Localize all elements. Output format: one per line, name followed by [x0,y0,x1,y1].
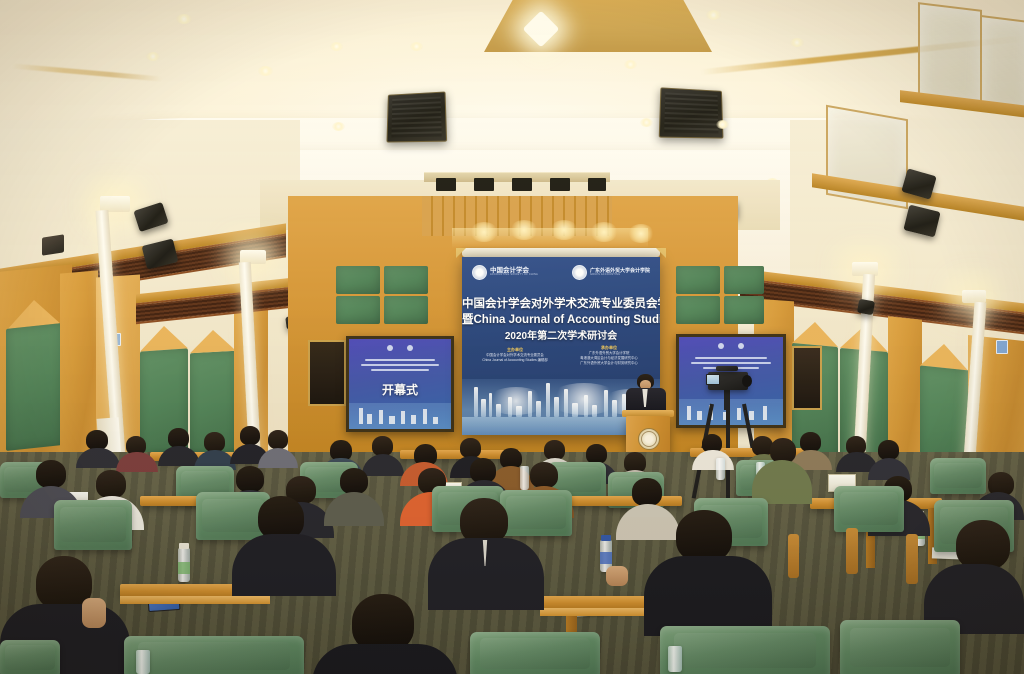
seat-front-2 [470,632,600,674]
banner-line-1: 中国会计学会对外学术交流专业委员会学术年会 [462,295,660,311]
attendee-head-front [676,510,732,562]
stage-recess-left [308,340,346,406]
seat-row2-6 [834,486,904,532]
attendee-hand-holding-bottle [606,566,628,586]
water-bottle[interactable] [520,466,529,490]
seat-front-1 [124,636,304,674]
banner-logo-row: 中国会计学会 ACCOUNTING SOCIETY OF CHINA 广东外语外… [462,265,660,280]
banner-logo-society: 中国会计学会 ACCOUNTING SOCIETY OF CHINA [472,265,538,280]
stage-panel-left-2 [336,296,380,324]
wall-triangle-left-3 [190,329,236,353]
seat-row2-1 [54,500,132,550]
seat-armrest [788,534,799,578]
wall-speaker-left-small [42,234,64,255]
attendee-head-front [956,520,1010,570]
side-screen-left-headline: 开幕式 [349,381,451,398]
bottle-label [600,552,612,564]
bottle-cap [601,535,611,541]
attendee-head [530,462,558,488]
banner-sub-left-line-2: China Journal of Accounting Studies 编辑部 [476,358,554,363]
stage-panel-right-2 [676,296,720,324]
wall-panel-left-1 [6,323,62,451]
camera-lcd-screen[interactable] [706,374,720,385]
attendee-head [544,440,565,460]
seat-front-3 [660,626,830,674]
desk-edge [120,596,270,604]
seat-armrest [906,534,918,584]
camera-lens-icon [742,375,752,387]
attendee-head [204,432,225,452]
screen-right-skyline [679,399,783,425]
stage-panel-right-4 [724,296,764,324]
attendee-head [36,460,66,488]
seat-armrest [846,528,858,574]
bottle-label [178,562,190,574]
screen-left-skyline [349,403,451,429]
ceiling-gold-panel [484,0,712,52]
bottle-cap [179,543,189,549]
stage-panel-left-3 [384,266,428,294]
banner-valance [462,248,660,257]
attendee-shoulders-front [312,644,458,674]
ceiling-speaker-right [659,87,724,138]
desk-mid-center [556,496,682,506]
ceiling-speaker-left [386,91,447,142]
university-seal-icon [572,265,587,280]
banner-sub-left: 主办单位 中国会计学会对外学术交流专业委员会 China Journal of … [476,347,554,363]
attendee-shoulders-front [232,534,336,596]
wall-sign-right [996,340,1008,354]
seat-front-5 [840,620,960,674]
side-screen-left: 开幕式 [346,336,454,432]
seat-front-4 [0,640,60,674]
attendee-head [632,478,662,506]
stage-light-right-3 [857,299,875,316]
banner-logo-2-en: GDUFS ACCOUNTING [590,274,650,277]
attendee-head [372,436,393,456]
attendee-head [340,468,368,494]
attendee-head [460,438,481,458]
attendee-head [236,466,264,492]
attendee-shoulders-front [644,556,772,636]
attendee-head [240,426,260,445]
water-bottle[interactable] [668,646,682,672]
seat-row2-4 [500,490,572,536]
conference-hall-photo: 开幕式 [0,0,1024,674]
wall-triangle-left-2 [140,324,188,351]
banner-sub-right: 承办单位 广东外语外贸大学会计学院 粤港澳大湾区会计与经济发展研究中心 广东外语… [566,345,652,366]
attendee-head [878,440,899,460]
camera-handle [716,366,738,371]
banner-line-3: 2020年第二次学术研讨会 [462,327,660,342]
screen-left-logo-1 [387,345,393,351]
stage-panel-left-1 [336,266,380,294]
attendee-head [96,470,126,498]
banner-sub-right-line-3: 广东外语外贸大学会计与财务研究中心 [566,361,652,366]
attendee-head [800,432,821,452]
seat-row3-7 [930,458,986,494]
attendee-head [268,430,288,449]
banner-line-2: 暨China Journal of Accounting Studies [462,311,660,327]
attendee-hand [82,598,106,628]
banner-logo-1-en: ACCOUNTING SOCIETY OF CHINA [490,274,538,277]
stage-panel-right-3 [724,266,764,294]
stage-panel-left-4 [384,296,428,324]
attendee-head [168,428,189,448]
stage-panel-right-1 [676,266,720,294]
banner-logo-university: 广东外语外贸大学会计学院 GDUFS ACCOUNTING [572,265,650,280]
attendee-head [586,444,607,464]
banner-sub-left-line-1: 中国会计学会对外学术交流专业委员会 [476,353,554,358]
society-seal-icon [472,265,487,280]
university-crest-icon [638,428,660,450]
water-bottle[interactable] [716,458,725,480]
screen-right-logo-1 [718,343,724,349]
water-bottle[interactable] [136,650,150,674]
screen-right-logo-2 [738,343,744,349]
screen-left-logo-2 [407,345,413,351]
stage-recess-right [792,346,822,410]
attendee-head [86,430,108,450]
